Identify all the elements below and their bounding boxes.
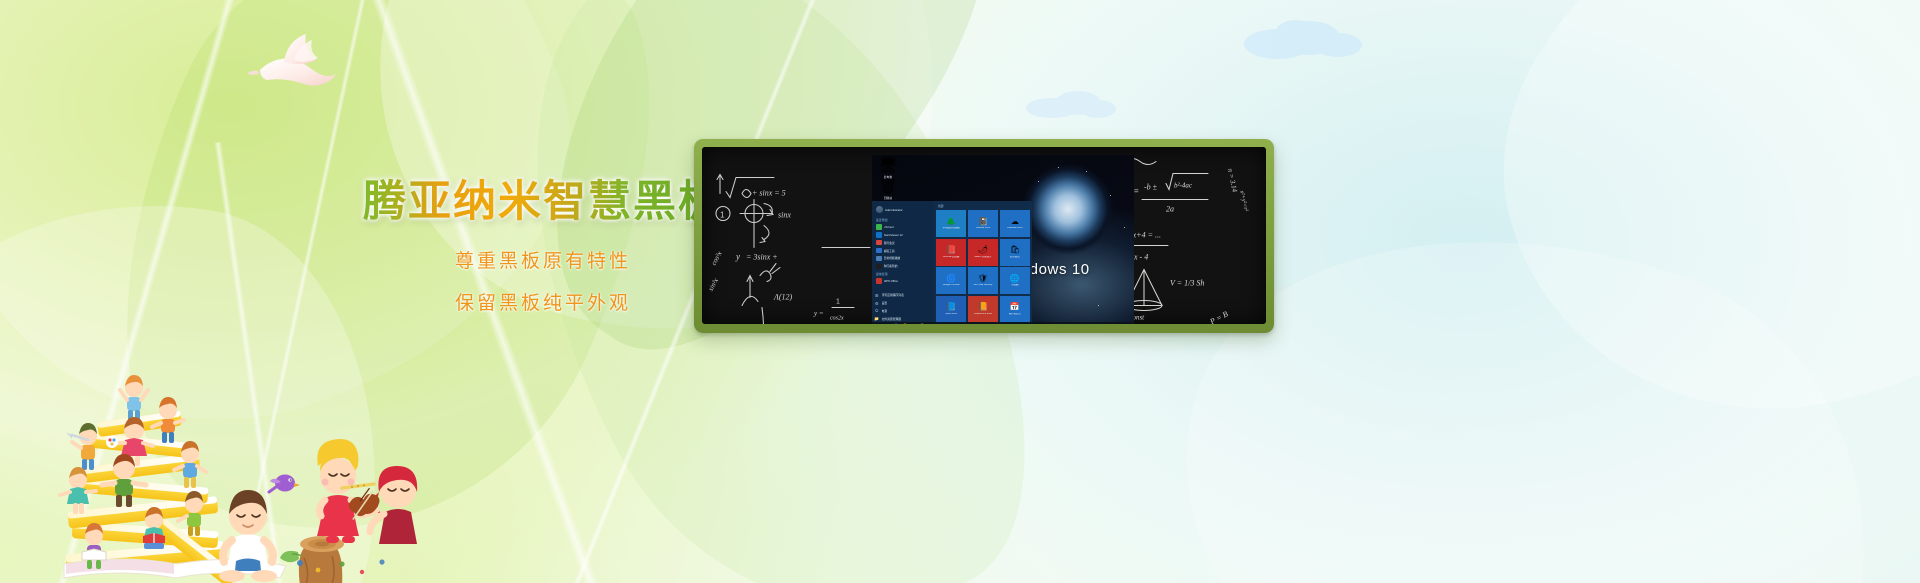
user-name: Administrator	[885, 208, 903, 212]
start-menu-user[interactable]: Administrator	[874, 204, 932, 216]
computer-icon: 🖥	[875, 158, 901, 174]
chrome-icon: 🌀	[946, 274, 956, 283]
svg-text:-b ±: -b ±	[1144, 183, 1158, 192]
hero-banner: 腾亚纳米智慧黑板 尊重黑板原有特性 保留黑板纯平外观 + sinx = 5 1	[0, 0, 1920, 583]
folder-icon[interactable]: 📁	[911, 324, 917, 325]
start-menu-settings[interactable]: ⚙ 设置	[872, 299, 934, 307]
start-menu-power[interactable]: ⏻ 电源	[872, 307, 934, 315]
tile-label: OneNote 2013	[1000, 227, 1030, 230]
power-icon: ⏻	[874, 308, 880, 314]
svg-text:2a: 2a	[1166, 205, 1174, 214]
gear-icon: ⚙	[874, 301, 880, 307]
start-menu-item-label: 你们看到的	[884, 264, 898, 268]
blackboard-surface: + sinx = 5 1 sinx = 3sinx + y cos²x	[702, 147, 1266, 324]
svg-text:1: 1	[836, 299, 840, 306]
start-menu-all-apps[interactable]: ⊞ 所有应用程序列表	[872, 292, 934, 300]
tile-word[interactable]: 📘 Word 2013	[936, 296, 966, 323]
start-icon[interactable]: ⊞	[874, 324, 878, 325]
tencent-icon	[876, 240, 882, 246]
headline-block: 腾亚纳米智慧黑板 尊重黑板原有特性 保留黑板纯平外观	[333, 177, 753, 315]
start-menu-item-label: TeamViewer 12	[884, 233, 903, 237]
wps-office-icon	[876, 278, 882, 284]
start-menu-item-label: WPS Office	[884, 279, 898, 283]
editor-icon	[876, 248, 882, 254]
subtitle-line-1: 尊重黑板原有特性	[333, 246, 753, 273]
tile-browser[interactable]: 🌐 浏览器	[1000, 267, 1030, 294]
start-menu-item[interactable]: 日常视频播放	[874, 255, 932, 263]
svg-text:=: =	[1134, 187, 1139, 196]
tree-icon: 🌲	[946, 217, 956, 226]
start-menu-item-label: 编辑工具	[884, 249, 895, 253]
svg-text:cos²x: cos²x	[710, 249, 724, 266]
dove-icon	[246, 30, 338, 94]
smart-blackboard-device: + sinx = 5 1 sinx = 3sinx + y cos²x	[694, 139, 1274, 333]
cloud-icon: ☁	[1011, 217, 1019, 226]
start-menu-bottom-items: ⊞ 所有应用程序列表 ⚙ 设置 ⏻ 电源	[872, 292, 934, 324]
tile-nero[interactable]: 🌶 NERO 刻录软件	[968, 239, 998, 266]
start-menu-item-label: 文件资源管理器	[882, 317, 902, 321]
windows-screen: 🖥 此电脑 🗑 回收站 Windows 10 Administrator	[872, 155, 1134, 324]
svg-text:sin²x: sin²x	[707, 276, 721, 292]
start-menu-item[interactable]: TeamViewer 12	[874, 231, 932, 239]
recycle-bin-icon: 🗑	[875, 179, 901, 195]
children-on-books-illustration	[42, 358, 422, 583]
pdf-icon: 📕	[946, 245, 956, 254]
tile-label: 应用商店	[1000, 256, 1030, 259]
tile-label: NERO 刻录软件	[968, 256, 998, 259]
svg-text:= 3sinx +: = 3sinx +	[746, 253, 778, 262]
chalk-formulas-left: + sinx = 5 1 sinx = 3sinx + y cos²x	[702, 147, 872, 324]
confetti-dot	[316, 568, 321, 573]
svg-text:V = 1/3 Sh: V = 1/3 Sh	[1170, 279, 1204, 288]
svg-text:cos2x: cos2x	[830, 316, 844, 322]
tile-security[interactable]: 🛡 360 Total Security	[968, 267, 998, 294]
desktop-icon-recycle-bin[interactable]: 🗑 回收站	[875, 179, 901, 200]
video-icon	[876, 256, 882, 262]
tile-calendar[interactable]: 📅 邮件和日历	[1000, 296, 1030, 323]
chalk-formulas-right: x 1,2 = -b ± b²-4ac 2a x² -3x+4 = ... 2x…	[1116, 147, 1266, 324]
tile-label: 本地路径管理器	[936, 227, 966, 230]
task-view-icon[interactable]: ❐	[881, 324, 885, 325]
svg-text:P = B: P = B	[1208, 309, 1230, 324]
start-menu-item[interactable]: 腾讯会议	[874, 239, 932, 247]
tile-acrobat[interactable]: 📕 ADOBE 阅读器	[936, 239, 966, 266]
start-menu-item-label: 电源	[882, 309, 888, 313]
tile-label: PowerPoint 2013	[968, 313, 998, 316]
svg-text:y: y	[735, 252, 740, 262]
start-menu-item-label: 所有应用程序列表	[882, 293, 904, 297]
avatar	[876, 206, 883, 213]
firefox-icon[interactable]: 🟠	[902, 324, 908, 325]
start-menu-item-label: 设置	[882, 301, 888, 305]
confetti-dot	[360, 570, 364, 574]
tile-store[interactable]: 🛍 应用商店	[1000, 239, 1030, 266]
tile-powerpoint[interactable]: 📙 PowerPoint 2013	[968, 296, 998, 323]
svg-text:1: 1	[720, 211, 725, 220]
desktop-icon-computer[interactable]: 🖥 此电脑	[875, 158, 901, 179]
start-menu-item-label: 腾讯会议	[884, 241, 895, 245]
word-icon: 📘	[946, 302, 956, 311]
file-icon	[876, 264, 882, 270]
start-menu-item[interactable]: µTorrent	[874, 223, 932, 231]
tile-label: 邮件和日历	[1000, 313, 1030, 316]
tile-onedrive[interactable]: ☁ OneNote 2013	[1000, 210, 1030, 237]
star-dot	[1038, 181, 1039, 182]
tile-label: Outlook 2013	[968, 227, 998, 230]
start-menu-item[interactable]: 编辑工具	[874, 247, 932, 255]
tile-label: Word 2013	[936, 313, 966, 316]
start-menu-item[interactable]: WPS Office	[874, 277, 932, 285]
svg-text:π = 3.14: π = 3.14	[1226, 168, 1239, 194]
svg-text:+ sinx = 5: + sinx = 5	[752, 189, 786, 198]
folder-icon: 📁	[874, 316, 880, 322]
start-menu-tiles-panel: 创建 🌲 本地路径管理器 📓 Outlook 2013 ☁	[934, 201, 1032, 324]
calendar-icon: 📅	[1010, 302, 1020, 311]
start-menu[interactable]: Administrator 最近添加 µTorrent TeamViewer 1…	[872, 201, 1032, 324]
start-menu-left-column: Administrator 最近添加 µTorrent TeamViewer 1…	[872, 201, 934, 324]
tile-nav[interactable]: 🌲 本地路径管理器	[936, 210, 966, 237]
taskbar[interactable]: ⊞ ❐ ○ 🔵 🟠 📁 🟢 中 ⌨ 🔊 📶	[872, 322, 1134, 324]
powerpoint-icon: 📙	[978, 302, 988, 311]
page-title: 腾亚纳米智慧黑板	[333, 177, 753, 228]
tile-chrome[interactable]: 🌀 Google Chrome	[936, 267, 966, 294]
confetti-dot	[379, 559, 384, 564]
svg-text:x²+y²=r²: x²+y²=r²	[1238, 189, 1249, 212]
store-icon[interactable]: 🟢	[919, 324, 925, 325]
utorrent-icon	[876, 224, 882, 230]
taskbar-icons: ⊞ ❐ ○ 🔵 🟠 📁 🟢	[874, 324, 926, 325]
confetti-dot	[339, 561, 344, 566]
search-icon[interactable]: ○	[888, 324, 891, 325]
subtitle-line-2: 保留黑板纯平外观	[333, 288, 753, 315]
frequent-apps-header: 最常使用	[874, 270, 932, 277]
cloud-icon	[1022, 86, 1118, 120]
tile-label: Google Chrome	[936, 284, 966, 287]
cloud-icon	[1238, 14, 1366, 62]
tile-label: ADOBE 阅读器	[936, 256, 966, 259]
confetti-dot	[297, 560, 303, 566]
all-apps-icon: ⊞	[874, 293, 880, 299]
nero-icon: 🌶	[978, 245, 988, 254]
notebook-icon: 📓	[978, 217, 988, 226]
desktop-icon-label: 回收站	[875, 196, 901, 200]
tile-onenote[interactable]: 📓 Outlook 2013	[968, 210, 998, 237]
shield-icon: 🛡	[978, 274, 988, 283]
teamviewer-icon	[876, 232, 882, 238]
star-dot	[1058, 167, 1059, 168]
svg-text:Λ(12): Λ(12)	[773, 293, 792, 302]
svg-text:sinx: sinx	[778, 211, 791, 220]
chrome-icon[interactable]: 🔵	[893, 324, 899, 325]
tile-label: 360 Total Security	[968, 284, 998, 287]
svg-text:b²-4ac: b²-4ac	[1174, 182, 1193, 190]
svg-text:y =: y =	[813, 310, 824, 318]
start-menu-item-label: µTorrent	[884, 225, 894, 229]
globe-icon: 🌐	[1010, 274, 1020, 283]
store-icon: 🛍	[1010, 245, 1020, 254]
recent-apps-header: 最近添加	[874, 216, 932, 223]
start-menu-item[interactable]: 你们看到的	[874, 262, 932, 270]
tile-label: 浏览器	[1000, 284, 1030, 287]
tiles-grid: 🌲 本地路径管理器 📓 Outlook 2013 ☁ OneNote 2013	[936, 210, 1030, 323]
start-menu-item-label: 日常视频播放	[884, 256, 901, 260]
